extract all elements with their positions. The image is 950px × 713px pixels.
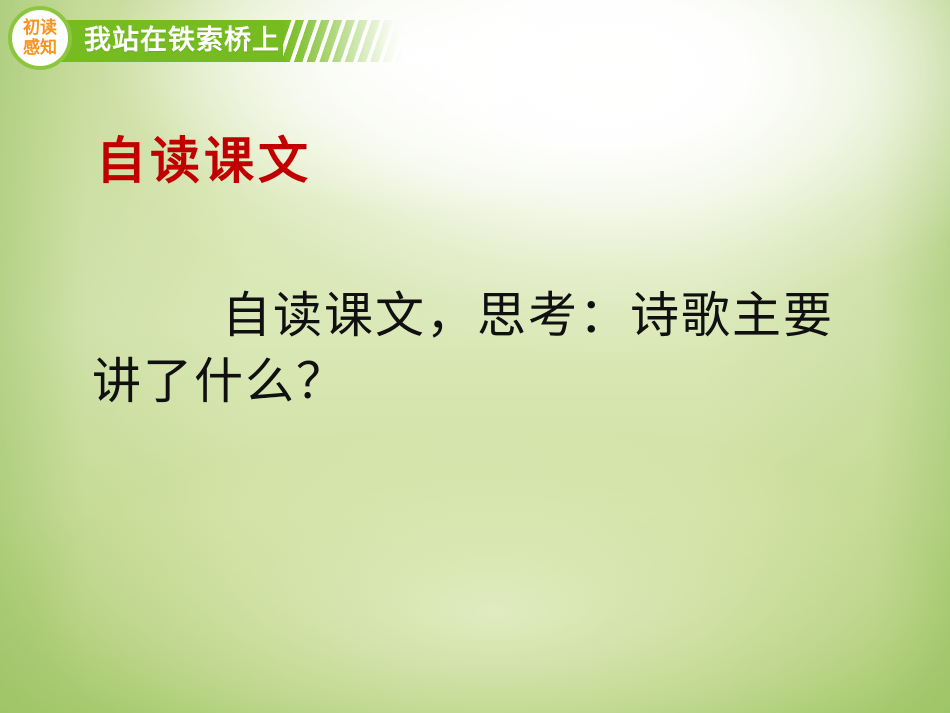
section-badge: 初读 感知 [8, 6, 72, 70]
lesson-title: 我站在铁索桥上 [84, 24, 280, 58]
section-badge-line-bottom: 感知 [23, 40, 57, 57]
page-title: 自读课文 [96, 130, 312, 192]
section-badge-line-top: 初读 [23, 20, 57, 37]
header-banner: 我站在铁索桥上 初读 感知 [0, 0, 950, 84]
body-text-line-1: 自读课文，思考：诗歌主要 [92, 283, 892, 349]
slide-canvas: 我站在铁索桥上 初读 感知 自读课文 自读课文，思考：诗歌主要 讲了什么？ [0, 0, 950, 713]
body-text-block: 自读课文，思考：诗歌主要 讲了什么？ [92, 283, 892, 415]
banner-stripes-decoration [283, 20, 403, 62]
body-text-line-2: 讲了什么？ [92, 349, 892, 415]
